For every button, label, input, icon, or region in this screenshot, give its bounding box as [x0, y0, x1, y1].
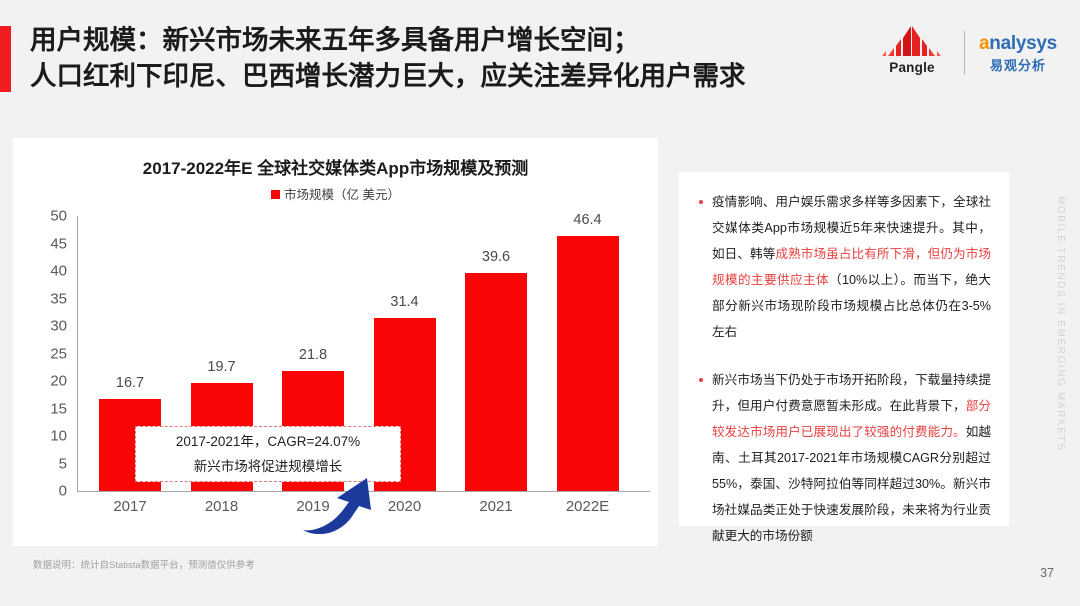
side-vertical-label: MOBILE TRENDS IN EMERGING MARKETS — [1055, 196, 1066, 451]
x-axis-tick-label: 2017 — [90, 498, 170, 515]
chart-title: 2017-2022年E 全球社交媒体类App市场规模及预测 — [13, 154, 658, 179]
analysys-chinese-name: 易观分析 — [990, 55, 1046, 74]
bar-value-label: 39.6 — [456, 249, 536, 265]
source-note: 数据说明：统计自Statista数据平台，预测值仅供参考 — [33, 557, 255, 571]
bullet-dot-icon — [699, 378, 703, 382]
y-axis-tick-label: 25 — [35, 345, 67, 362]
chart-bar[interactable] — [465, 273, 527, 491]
pangle-wordmark: Pangle — [889, 60, 934, 75]
analysys-logo: analysys 易观分析 — [979, 33, 1057, 74]
bar-value-label: 31.4 — [365, 294, 445, 310]
y-axis-tick-label: 40 — [35, 263, 67, 280]
analysys-a-glyph: a — [979, 33, 989, 54]
chart-plot-area: 05101520253035404550 16.719.721.831.439.… — [13, 210, 658, 546]
note-bullet-1: 疫情影响、用户娱乐需求多样等多因素下，全球社交媒体类App市场规模近5年来快速提… — [691, 172, 991, 345]
annotation-line-1: 2017-2021年，CAGR=24.07% — [176, 429, 360, 454]
legend-label: 市场规模（亿 美元） — [284, 188, 400, 202]
y-axis-tick-label: 35 — [35, 290, 67, 307]
slide-header: 用户规模：新兴市场未来五年多具备用户增长空间； 人口红利下印尼、巴西增长潜力巨大… — [0, 0, 1080, 118]
y-axis-line — [77, 216, 78, 492]
bullet-dot-icon — [699, 200, 703, 204]
y-axis-tick-label: 45 — [35, 235, 67, 252]
y-axis-tick-label: 50 — [35, 208, 67, 225]
pangle-mountain-icon — [874, 25, 950, 59]
chart-legend: 市场规模（亿 美元） — [13, 184, 658, 203]
x-axis-tick-label: 2018 — [182, 498, 262, 515]
chart-annotation-box: 2017-2021年，CAGR=24.07% 新兴市场将促进规模增长 — [135, 426, 401, 482]
slide-root: 用户规模：新兴市场未来五年多具备用户增长空间； 人口红利下印尼、巴西增长潜力巨大… — [0, 0, 1080, 606]
legend-swatch-icon — [271, 190, 280, 199]
x-axis-tick-label: 2020 — [365, 498, 445, 515]
y-axis-tick-label: 15 — [35, 400, 67, 417]
title-accent-bar — [0, 26, 11, 92]
chart-card: 2017-2022年E 全球社交媒体类App市场规模及预测 市场规模（亿 美元）… — [13, 138, 658, 546]
bar-value-label: 21.8 — [273, 347, 353, 363]
analysys-wordmark: analysys — [979, 33, 1057, 54]
y-axis-tick-label: 20 — [35, 373, 67, 390]
analysys-rest-text: nalysys — [989, 33, 1057, 54]
notes-card: 疫情影响、用户娱乐需求多样等多因素下，全球社交媒体类App市场规模近5年来快速提… — [679, 172, 1009, 526]
note-2-part-2: 如越南、土耳其2017-2021年市场规模CAGR分别超过55%，泰国、沙特阿拉… — [712, 425, 991, 543]
page-title: 用户规模：新兴市场未来五年多具备用户增长空间； 人口红利下印尼、巴西增长潜力巨大… — [30, 22, 870, 94]
logo-area: Pangle analysys 易观分析 — [870, 22, 1066, 84]
page-number: 37 — [1040, 566, 1054, 580]
y-axis-tick-label: 30 — [35, 318, 67, 335]
y-axis-tick-label: 5 — [35, 455, 67, 472]
x-axis-tick-label: 2022E — [548, 498, 628, 515]
y-axis-tick-label: 0 — [35, 483, 67, 500]
y-axis-tick-label: 10 — [35, 428, 67, 445]
note-2-part-1: 新兴市场当下仍处于市场开拓阶段，下载量持续提升，但用户付费意愿暂未形成。在此背景… — [712, 373, 991, 413]
note-bullet-2: 新兴市场当下仍处于市场开拓阶段，下载量持续提升，但用户付费意愿暂未形成。在此背景… — [691, 345, 991, 549]
curved-up-arrow-icon — [301, 476, 375, 534]
x-axis-tick-label: 2021 — [456, 498, 536, 515]
chart-bar[interactable] — [557, 236, 619, 491]
bar-value-label: 19.7 — [182, 359, 262, 375]
bar-value-label: 16.7 — [90, 375, 170, 391]
bar-value-label: 46.4 — [548, 212, 628, 228]
logo-divider — [964, 31, 965, 75]
pangle-logo: Pangle — [870, 25, 954, 81]
